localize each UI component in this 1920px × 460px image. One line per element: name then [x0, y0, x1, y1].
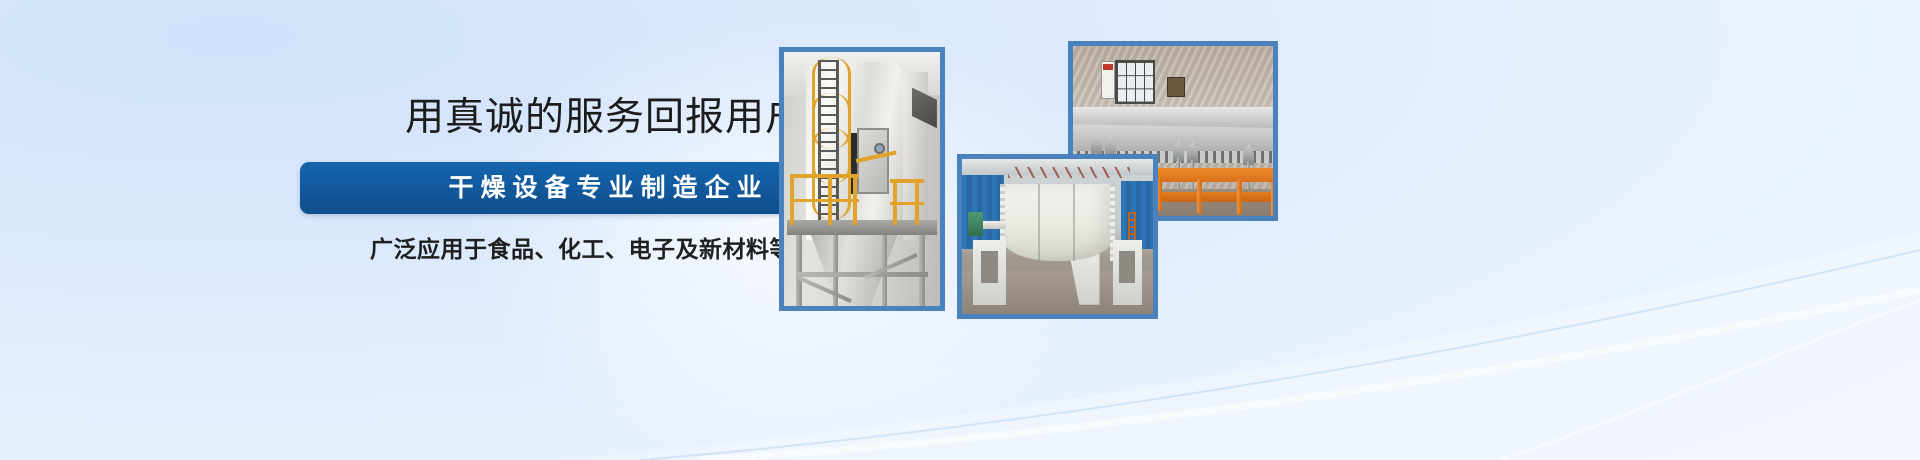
photo-spray-dryer-tower [779, 47, 945, 311]
photo-ribbon-mixer [957, 154, 1158, 319]
spray-dryer-scene [784, 52, 940, 306]
ribbon-mixer-scene [962, 159, 1153, 314]
promo-banner: 用真诚的服务回报用户 干燥设备专业制造企业 广泛应用于食品、化工、电子及新材料等… [0, 0, 1920, 460]
support-legs [790, 235, 934, 306]
